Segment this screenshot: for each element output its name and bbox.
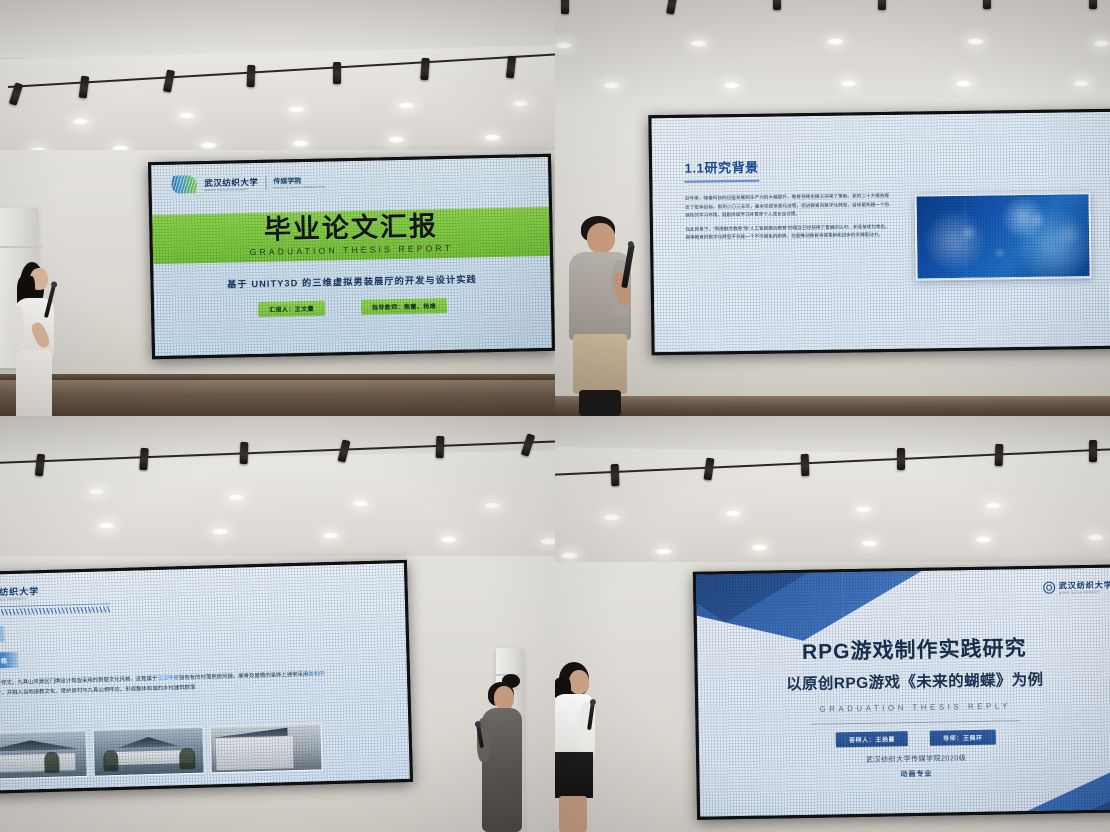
wall-shape (0, 753, 75, 773)
downlight (322, 532, 339, 539)
slide3-paragraph: 房屋整体设计样式，九真山风景区门牌设计等皆采用的荆楚文化风格，这是属于江汉平原独… (0, 669, 325, 699)
downlight (200, 142, 217, 149)
skirting-board (0, 374, 555, 380)
roof-shape (118, 736, 180, 748)
slide2-paragraph-2: 在此背景下，“网络融合教育”和“人工智能融合教育”的理念已经获得了普遍的认可，并… (685, 223, 889, 243)
downlight (352, 500, 369, 507)
slide3-photo-2 (92, 726, 205, 777)
slide1-title: 毕业论文汇报 (264, 214, 439, 245)
slide1-title-band: 毕业论文汇报 GRADUATION THESIS REPORT (152, 207, 550, 265)
arm (11, 306, 24, 350)
downlight (212, 528, 229, 535)
spotlight (1089, 440, 1097, 462)
led-screen-slide-3: 武汉纺织大学 WUHAN TEXTILE UNIVERSITY 课题背景 建筑风… (0, 560, 413, 794)
shorts (573, 334, 627, 394)
spotlight (139, 448, 149, 471)
downlight (98, 522, 115, 529)
slide2-heading: 1.1研究背景 (684, 157, 759, 177)
spotlight (995, 444, 1004, 466)
led-screen-slide-4: 武汉纺织大学 WUHAN TEXTILE UNIVERSITY RPG游戏制作实… (693, 564, 1110, 820)
spotlight (561, 0, 569, 14)
downlight (484, 134, 501, 141)
led-screen-slide-1: 武汉纺织大学 WUHAN TEXTILE UNIVERSITY 传媒学院 SCH… (148, 154, 555, 359)
downlight (861, 540, 878, 547)
spotlight (333, 62, 341, 84)
photo-collage: 武汉纺织大学 WUHAN TEXTILE UNIVERSITY 传媒学院 SCH… (0, 0, 1110, 832)
downlight (555, 42, 572, 49)
university-name-en: WUHAN TEXTILE UNIVERSITY (204, 188, 258, 192)
university-name-cn: 武汉纺织大学 (0, 584, 39, 599)
spotlight (247, 65, 256, 87)
spotlight (773, 0, 781, 10)
downlight (484, 502, 501, 509)
tree-shape (179, 748, 195, 769)
logo-divider (265, 176, 266, 190)
skirt (555, 752, 593, 798)
presenter-tag: 答辩人：王扬蔓 (836, 731, 908, 747)
para-part1: 房屋整体设计样式，九真山风景区门牌设计等皆采用的荆楚文化风格，这是属于 (0, 676, 157, 687)
panel-top-left: 武汉纺织大学 WUHAN TEXTILE UNIVERSITY 传媒学院 SCH… (0, 0, 555, 416)
downlight (827, 38, 844, 45)
slide4-tags: 答辩人：王扬蔓 导师：王佩环 (699, 727, 1110, 750)
slide1-logo: 武汉纺织大学 WUHAN TEXTILE UNIVERSITY 传媒学院 SCH… (171, 173, 325, 194)
slide-rpg-thesis: 武汉纺织大学 WUHAN TEXTILE UNIVERSITY RPG游戏制作实… (696, 567, 1110, 817)
slide1-subtitle-en: GRADUATION THESIS REPORT (250, 243, 454, 257)
presenter-woman-grey-dress (476, 678, 536, 832)
legs (16, 350, 52, 416)
slide4-department: 武汉纺织大学传媒学院2020级 (699, 750, 1110, 768)
downlight (723, 82, 740, 89)
tree-shape (103, 750, 119, 771)
slide3-photo-1 (0, 730, 87, 781)
downlight (655, 548, 672, 555)
ceiling-upper (555, 0, 1110, 110)
slide4-title-en: GRADUATION THESIS REPLY (698, 699, 1110, 716)
downlight (1073, 80, 1090, 87)
spotlight (436, 436, 445, 458)
slide4-divider (811, 720, 1019, 725)
downlight (690, 40, 707, 47)
downlight (72, 118, 89, 125)
slide4-title-main: RPG游戏制作实践研究 (697, 630, 1110, 668)
slide-architecture-style: 武汉纺织大学 WUHAN TEXTILE UNIVERSITY 课题背景 建筑风… (0, 563, 410, 791)
para-part2: 独有有的村落民居风貌。屋脊及屋檐的装饰上通常采用 (179, 671, 309, 681)
spotlight (611, 464, 620, 486)
roof-shape (0, 739, 79, 752)
tree-shape (44, 751, 60, 772)
downlight (603, 82, 620, 89)
presenter-man-grey (563, 216, 643, 416)
university-emblem-icon (170, 176, 198, 195)
university-name-cn: 武汉纺织大学 (1059, 580, 1110, 592)
downlight (228, 494, 245, 501)
slide3-chip-topic: 课题背景 (0, 626, 5, 643)
downlight (561, 552, 578, 559)
presenter-woman-white (8, 262, 66, 416)
downlight (512, 100, 529, 107)
downlight (178, 112, 195, 119)
spotlight (897, 448, 905, 470)
head (494, 686, 514, 710)
cabinet-seam (0, 246, 42, 248)
downlight (725, 510, 742, 517)
downlight (985, 502, 1002, 509)
downlight (975, 536, 992, 543)
legs (579, 390, 621, 416)
downlight (440, 536, 457, 543)
downlight (751, 544, 768, 551)
spotlight (983, 0, 991, 9)
slide-research-background: 1.1研究背景 近年来，随着科技的迅猛发展和生产力的大幅提升，教育领域也随之迎来… (651, 112, 1110, 352)
spotlight (1089, 0, 1097, 9)
floor (0, 380, 555, 416)
slide3-chip-style: 建筑风格 (0, 652, 18, 669)
slide2-body: 近年来，随着科技的迅猛发展和生产力的大幅提升，教育领域也随之迎来了革新。党的二十… (685, 192, 890, 247)
panel-bottom-right: 武汉纺织大学 WUHAN TEXTILE UNIVERSITY RPG游戏制作实… (555, 416, 1110, 832)
school-name-en: SCHOOL OF MEDIA & COMMUNICATION (273, 185, 325, 189)
spotlight (420, 58, 430, 81)
slide2-photo (915, 192, 1093, 281)
downlight (955, 80, 972, 87)
panel-top-right: 1.1研究背景 近年来，随着科技的迅猛发展和生产力的大幅提升，教育领域也随之迎来… (555, 0, 1110, 416)
led-screen-slide-2: 1.1研究背景 近年来，随着科技的迅猛发展和生产力的大幅提升，教育领域也随之迎来… (648, 109, 1110, 356)
downlight (840, 80, 857, 87)
university-name-cn: 武汉纺织大学 (204, 176, 258, 189)
downlight (88, 488, 105, 495)
presenter-woman-white-blouse (555, 662, 609, 832)
slide2-paragraph-1: 近年来，随着科技的迅猛发展和生产力的大幅提升，教育领域也随之迎来了革新。党的二十… (685, 192, 889, 220)
spotlight (240, 442, 249, 464)
slide-thesis-report: 武汉纺织大学 WUHAN TEXTILE UNIVERSITY 传媒学院 SCH… (151, 157, 552, 356)
university-seal-icon (1043, 582, 1055, 594)
para-highlight1: 江汉平原 (157, 675, 179, 682)
slide4-major: 动画专业 (699, 766, 1110, 784)
slide3-photo-row (0, 723, 323, 780)
university-name-en: WUHAN TEXTILE UNIVERSITY (1059, 591, 1110, 595)
downlight (398, 102, 415, 109)
downlight (1087, 534, 1104, 541)
downlight (967, 38, 984, 45)
wall-shape (216, 736, 294, 771)
downlight (603, 514, 620, 521)
spotlight (801, 454, 810, 476)
spotlight (878, 0, 886, 10)
slide4-logo: 武汉纺织大学 WUHAN TEXTILE UNIVERSITY (1043, 580, 1110, 595)
slide4-title-sub: 以原创RPG游戏《未来的蝴蝶》为例 (698, 666, 1110, 696)
advisor-tag: 指导教师：熊蕾、杨靖 (361, 298, 447, 315)
university-name-en: WUHAN TEXTILE UNIVERSITY (0, 597, 39, 602)
downlight (288, 106, 305, 113)
presenter-tag: 汇报人：王文蔓 (258, 301, 325, 317)
head (569, 670, 589, 694)
slide3-logo: 武汉纺织大学 WUHAN TEXTILE UNIVERSITY (0, 584, 39, 602)
slide2-heading-rule (685, 180, 759, 183)
downlight (388, 136, 405, 143)
downlight (540, 538, 555, 545)
downlight (855, 506, 872, 513)
para-part3: 设计，并融入当地道教文化，使炉房村与九真山相呼应。形成整体和谐的乡村建筑群落 (0, 685, 195, 697)
slide1-topic: 基于 UNITY3D 的三维虚拟男装展厅的开发与设计实践 (153, 270, 550, 292)
downlight (292, 140, 309, 147)
downlight (1093, 40, 1110, 47)
slide1-tags: 汇报人：王文蔓 指导教师：熊蕾、杨靖 (154, 296, 551, 319)
head (587, 223, 615, 253)
panel-bottom-left: 武汉纺织大学 WUHAN TEXTILE UNIVERSITY 课题背景 建筑风… (0, 416, 555, 832)
advisor-tag: 导师：王佩环 (930, 729, 996, 745)
legs (559, 796, 587, 832)
